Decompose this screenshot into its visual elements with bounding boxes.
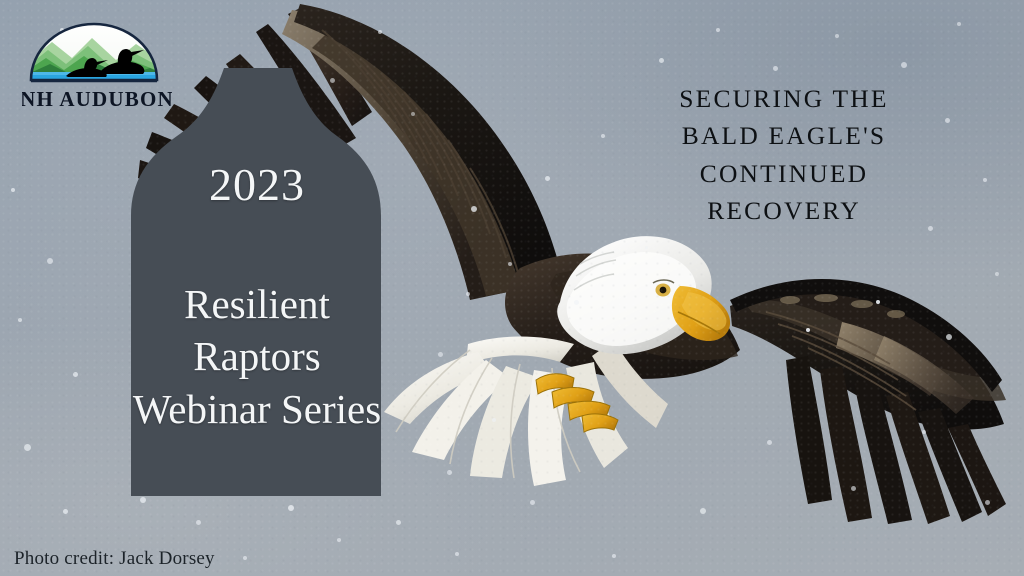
series-line-2: Raptors <box>93 330 421 382</box>
series-line-1: Resilient <box>93 278 421 330</box>
headline-line-2: BALD EAGLE'S <box>600 117 968 154</box>
headline-line-4: RECOVERY <box>600 192 968 229</box>
series-title: Resilient Raptors Webinar Series <box>93 278 421 435</box>
nh-audubon-logo[interactable]: NH AUDUBON <box>22 18 172 110</box>
logo-wordmark: NH AUDUBON <box>22 87 172 110</box>
slide-canvas: 2023 Resilient Raptors Webinar Series <box>0 0 1024 576</box>
title-panel: 2023 Resilient Raptors Webinar Series <box>93 66 421 498</box>
year-label: 2023 <box>93 162 421 208</box>
headline-line-3: CONTINUED <box>600 155 968 192</box>
series-line-3: Webinar Series <box>93 383 421 435</box>
panel-text-block: 2023 Resilient Raptors Webinar Series <box>93 66 421 498</box>
headline-line-1: SECURING THE <box>600 80 968 117</box>
photo-credit: Photo credit: Jack Dorsey <box>14 548 215 570</box>
headline: SECURING THE BALD EAGLE'S CONTINUED RECO… <box>600 80 968 230</box>
